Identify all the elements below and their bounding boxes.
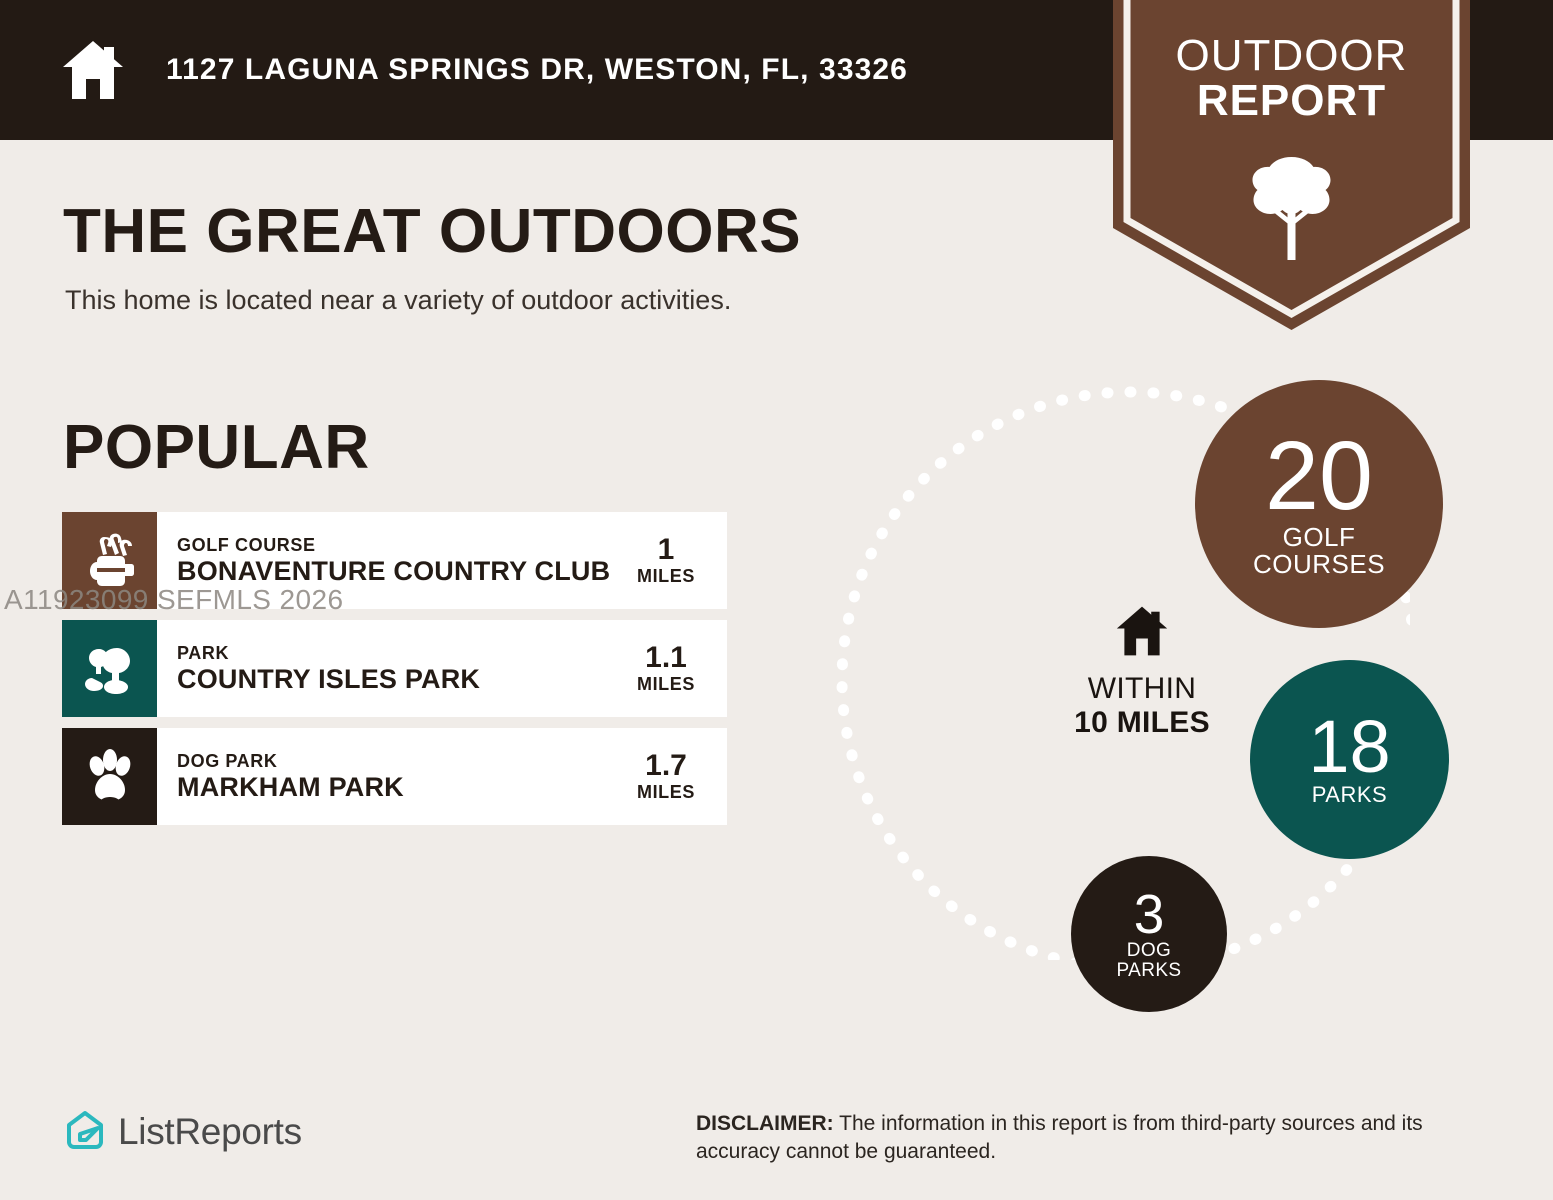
- list-item-distance: 1 MILES: [617, 512, 727, 609]
- stat-label-line1: GOLF: [1283, 524, 1356, 551]
- distance-unit: MILES: [637, 674, 695, 695]
- within-line1: WITHIN: [1042, 672, 1242, 706]
- park-trees-icon: [62, 620, 157, 717]
- within-radius-label: WITHIN 10 MILES: [1042, 605, 1242, 739]
- distance-value: 1: [658, 534, 675, 566]
- home-icon: [60, 39, 126, 101]
- list-item-text: GOLF COURSE BONAVENTURE COUNTRY CLUB: [157, 512, 617, 609]
- paw-print-icon: [62, 728, 157, 825]
- list-item[interactable]: GOLF COURSE BONAVENTURE COUNTRY CLUB 1 M…: [62, 512, 727, 609]
- page-title: THE GREAT OUTDOORS: [63, 196, 801, 267]
- listreports-logo-icon: [62, 1108, 108, 1156]
- stat-count: 18: [1308, 712, 1390, 782]
- list-item-text: DOG PARK MARKHAM PARK: [157, 728, 617, 825]
- list-item-distance: 1.1 MILES: [617, 620, 727, 717]
- disclaimer: DISCLAIMER: The information in this repo…: [696, 1110, 1496, 1167]
- stat-label-line2: COURSES: [1253, 551, 1385, 578]
- list-item-text: PARK COUNTRY ISLES PARK: [157, 620, 617, 717]
- list-item-name: COUNTRY ISLES PARK: [177, 664, 611, 694]
- outdoor-report-badge: OUTDOOR REPORT: [1113, 0, 1470, 330]
- list-item[interactable]: DOG PARK MARKHAM PARK 1.7 MILES: [62, 728, 727, 825]
- listreports-logo[interactable]: ListReports: [62, 1108, 302, 1156]
- list-item-distance: 1.7 MILES: [617, 728, 727, 825]
- property-address: 1127 LAGUNA SPRINGS DR, WESTON, FL, 3332…: [166, 53, 908, 87]
- page-subtitle: This home is located near a variety of o…: [65, 285, 731, 316]
- summary-panel: WITHIN 10 MILES 20 GOLF COURSES 18 PARKS…: [790, 340, 1553, 1060]
- list-item-category: DOG PARK: [177, 751, 611, 772]
- distance-unit: MILES: [637, 782, 695, 803]
- list-item[interactable]: PARK COUNTRY ISLES PARK 1.1 MILES: [62, 620, 727, 717]
- stat-circle-parks: 18 PARKS: [1250, 660, 1449, 859]
- distance-value: 1.7: [645, 750, 687, 782]
- listreports-logo-text: ListReports: [118, 1111, 302, 1153]
- list-item-name: MARKHAM PARK: [177, 772, 611, 802]
- distance-unit: MILES: [637, 566, 695, 587]
- disclaimer-label: DISCLAIMER:: [696, 1112, 834, 1135]
- stat-circle-golf-courses: 20 GOLF COURSES: [1195, 380, 1443, 628]
- stat-label-line1: PARKS: [1312, 784, 1387, 807]
- stat-circle-dog-parks: 3 DOG PARKS: [1071, 856, 1227, 1012]
- section-heading-popular: POPULAR: [63, 412, 370, 483]
- golf-bag-icon: [62, 512, 157, 609]
- popular-list: GOLF COURSE BONAVENTURE COUNTRY CLUB 1 M…: [62, 512, 727, 836]
- list-item-category: PARK: [177, 643, 611, 664]
- within-line2: 10 MILES: [1042, 706, 1242, 740]
- home-icon: [1042, 605, 1242, 662]
- stat-label-line1: DOG: [1127, 941, 1171, 961]
- stat-count: 3: [1134, 888, 1165, 940]
- list-item-name: BONAVENTURE COUNTRY CLUB: [177, 556, 611, 586]
- stat-label-line2: PARKS: [1116, 961, 1181, 981]
- list-item-category: GOLF COURSE: [177, 535, 611, 556]
- distance-value: 1.1: [645, 642, 687, 674]
- stat-count: 20: [1265, 430, 1373, 522]
